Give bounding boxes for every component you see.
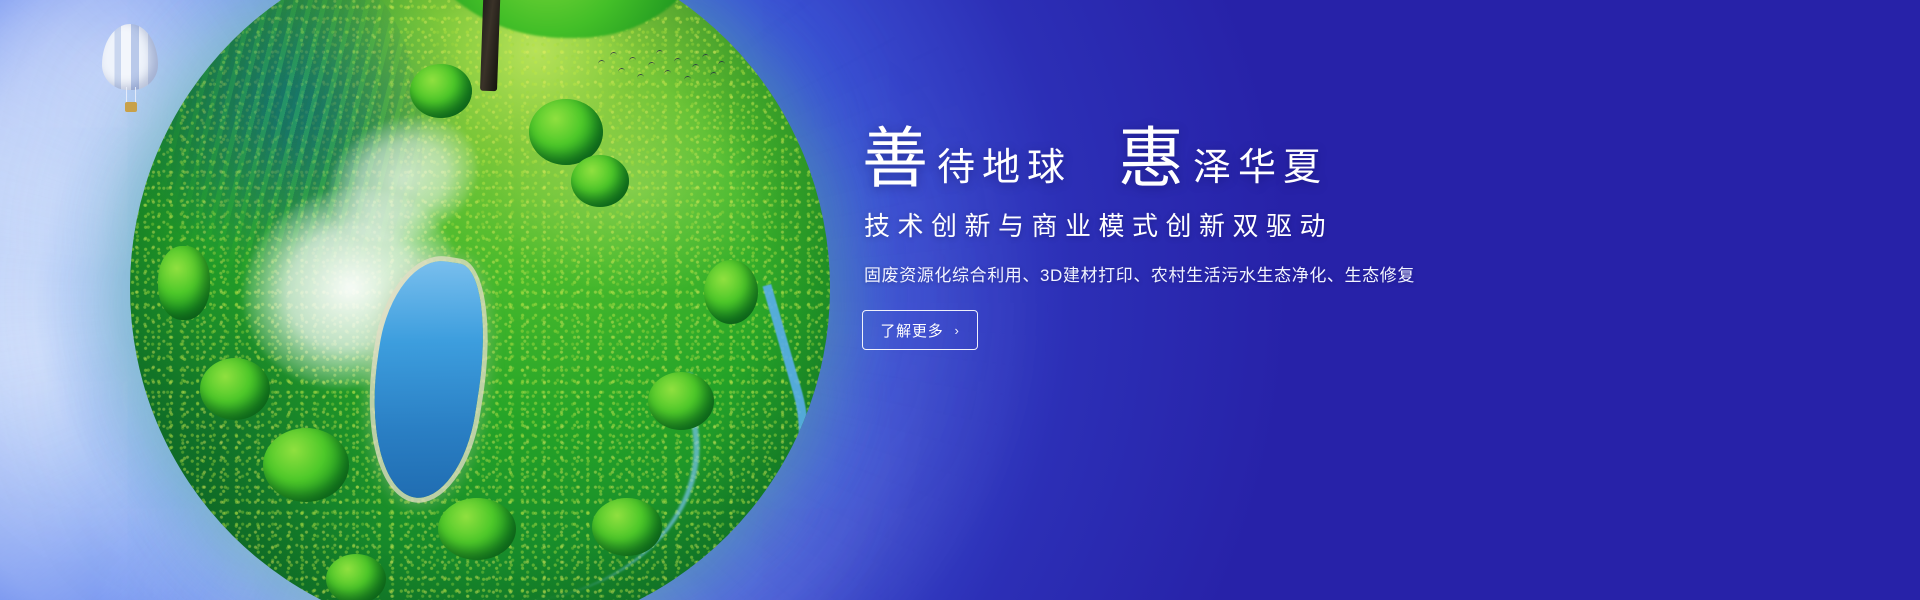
- foreground-tree-trunk: [480, 0, 501, 91]
- banner-description: 固废资源化综合利用、3D建材打印、农村生活污水生态净化、生态修复: [864, 261, 1562, 286]
- tree-canopy-icon: [200, 358, 270, 420]
- hot-air-balloon-icon: [102, 24, 158, 120]
- tree-canopy-icon: [592, 498, 662, 556]
- planet-mountains: [130, 0, 464, 344]
- bird-flock-icon: [596, 48, 726, 94]
- title-phrase2-lead-char: 惠: [1118, 126, 1184, 192]
- banner-title: 善 待地球 惠 泽华夏: [862, 126, 1562, 192]
- title-phrase1-rest: 待地球: [928, 148, 1072, 192]
- title-phrase1-lead-char: 善: [862, 126, 928, 192]
- tree-canopy-icon: [704, 260, 758, 324]
- planet-river-secondary: [428, 373, 714, 600]
- tree-canopy-icon: [158, 246, 210, 320]
- tree-canopy-icon: [438, 498, 516, 560]
- hero-banner: 善 待地球 惠 泽华夏 技术创新与商业模式创新双驱动 固废资源化综合利用、3D建…: [0, 0, 1920, 600]
- banner-subtitle: 技术创新与商业模式创新双驱动: [864, 206, 1562, 243]
- title-phrase2-rest: 泽华夏: [1184, 148, 1328, 192]
- tree-canopy-icon: [571, 155, 629, 207]
- foreground-tree-canopy-icon: [410, 0, 710, 38]
- chevron-right-icon: ›: [955, 324, 960, 337]
- tree-canopy-icon: [648, 372, 714, 430]
- balloon-basket: [125, 102, 137, 112]
- tree-canopy-icon: [326, 554, 386, 600]
- banner-content: 善 待地球 惠 泽华夏 技术创新与商业模式创新双驱动 固废资源化综合利用、3D建…: [862, 126, 1562, 350]
- planet-lake: [357, 253, 498, 504]
- learn-more-button[interactable]: 了解更多 ›: [862, 310, 978, 350]
- planet-cloud-secondary: [308, 94, 497, 265]
- tree-canopy-icon: [263, 428, 349, 502]
- tree-canopy-icon: [529, 99, 603, 165]
- learn-more-label: 了解更多: [880, 320, 943, 341]
- planet-cloud: [212, 154, 490, 421]
- balloon-envelope: [102, 24, 158, 90]
- planet-river: [462, 284, 830, 600]
- tree-canopy-icon: [410, 64, 472, 118]
